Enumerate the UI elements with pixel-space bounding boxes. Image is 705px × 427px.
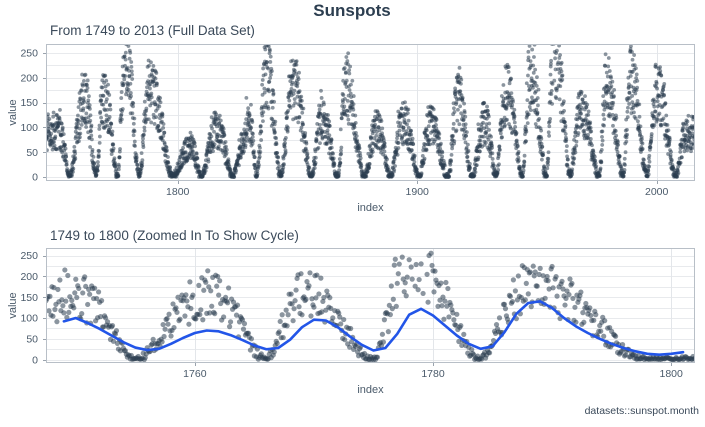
data-point (420, 291, 425, 296)
data-point (355, 134, 359, 138)
data-point (171, 325, 176, 330)
data-point (558, 53, 562, 57)
data-point (352, 102, 356, 106)
data-point (409, 129, 413, 133)
data-point (553, 274, 558, 279)
data-point (289, 292, 294, 297)
data-point (61, 126, 65, 130)
y-tick-label: 250 (20, 48, 38, 60)
data-point (76, 119, 80, 123)
data-point (71, 170, 75, 174)
data-point (609, 84, 613, 88)
data-point (160, 339, 165, 344)
data-point (428, 251, 433, 256)
data-point (250, 120, 254, 124)
data-point (271, 106, 275, 110)
data-point (563, 120, 567, 124)
y-axis-title: value (7, 292, 19, 318)
plot-area (46, 248, 695, 363)
data-point (99, 298, 104, 303)
data-point (248, 113, 252, 117)
data-point (464, 122, 468, 126)
data-point (322, 102, 326, 106)
data-point (463, 115, 467, 119)
data-point (307, 270, 312, 275)
data-point (601, 94, 605, 98)
data-point (453, 110, 457, 114)
data-point (154, 71, 158, 75)
data-point (440, 155, 444, 159)
data-point (635, 79, 639, 83)
data-point (295, 59, 299, 63)
data-point (86, 86, 90, 90)
data-point (505, 118, 509, 122)
data-point (566, 164, 570, 168)
data-point (275, 142, 279, 146)
data-point (409, 133, 413, 137)
data-point (380, 332, 385, 337)
data-point (497, 152, 501, 156)
data-point (448, 163, 452, 167)
data-point (78, 132, 82, 136)
data-point (318, 123, 322, 127)
data-point (298, 271, 303, 276)
data-point (570, 167, 574, 171)
data-point (327, 133, 331, 137)
data-point (407, 257, 412, 262)
data-point (127, 88, 131, 92)
data-point (50, 314, 55, 319)
data-point (200, 317, 205, 322)
data-point (345, 79, 349, 83)
data-point (114, 328, 119, 333)
data-point (286, 109, 290, 113)
data-point (280, 312, 285, 317)
data-point (151, 64, 155, 68)
data-point (306, 283, 311, 288)
data-point (380, 126, 384, 130)
data-point (64, 154, 68, 158)
data-point (120, 117, 124, 121)
data-point (174, 310, 179, 315)
data-point (110, 133, 114, 137)
data-point (637, 103, 641, 107)
data-point (679, 161, 683, 165)
data-point (652, 105, 656, 109)
data-point (140, 158, 144, 162)
data-point (398, 121, 402, 125)
data-point (575, 140, 579, 144)
data-point (510, 299, 515, 304)
data-point (92, 155, 96, 159)
data-point (636, 119, 640, 123)
data-point (602, 113, 606, 117)
data-point (344, 70, 348, 74)
data-point (611, 124, 615, 128)
data-point (117, 165, 121, 169)
data-point (456, 108, 460, 112)
data-point (649, 145, 653, 149)
data-point (566, 158, 570, 162)
data-point (265, 60, 269, 64)
data-point (450, 153, 454, 157)
data-point (570, 296, 575, 301)
data-point (122, 82, 126, 86)
data-point (526, 50, 530, 54)
data-point (272, 349, 277, 354)
data-point (339, 127, 343, 131)
data-point (318, 141, 322, 145)
data-point (602, 117, 606, 121)
data-point (241, 327, 246, 332)
data-point (686, 120, 690, 124)
data-point (339, 146, 343, 150)
data-point (560, 78, 564, 82)
data-point (186, 322, 191, 327)
data-point (527, 112, 531, 116)
data-point (558, 97, 562, 101)
x-tick-label: 1900 (406, 186, 430, 198)
data-point (678, 150, 682, 154)
data-point (300, 99, 304, 103)
data-point (209, 304, 214, 309)
data-point (370, 154, 374, 158)
data-point (293, 287, 298, 292)
data-point (535, 284, 540, 289)
data-point (251, 142, 255, 146)
data-point (338, 157, 342, 161)
data-point (624, 150, 628, 154)
data-point (342, 337, 347, 342)
data-point (497, 315, 502, 320)
data-point (532, 55, 536, 59)
data-point (130, 65, 134, 69)
data-point (642, 158, 646, 162)
data-point (508, 294, 513, 299)
data-point (84, 73, 88, 77)
data-point (98, 135, 102, 139)
data-point (346, 118, 350, 122)
data-point (104, 79, 108, 83)
data-point (349, 83, 353, 87)
data-point (71, 167, 75, 171)
data-point (594, 161, 598, 165)
data-point (583, 94, 587, 98)
data-point (256, 172, 260, 176)
data-point (400, 107, 404, 111)
data-point (89, 134, 93, 138)
data-point (510, 91, 514, 95)
data-point (261, 119, 265, 123)
data-point (614, 129, 618, 133)
data-point (193, 144, 197, 148)
data-point (612, 88, 616, 92)
data-point (446, 314, 451, 319)
data-point (623, 157, 627, 161)
data-point (540, 145, 544, 149)
data-point (65, 162, 69, 166)
data-point (235, 303, 240, 308)
data-point (461, 96, 465, 100)
data-point (205, 166, 209, 170)
data-point (103, 74, 107, 78)
data-point (639, 124, 643, 128)
data-point (510, 103, 514, 107)
data-point (237, 163, 241, 167)
data-point (80, 123, 84, 127)
data-point (118, 155, 122, 159)
data-point (111, 130, 115, 134)
data-point (274, 136, 278, 140)
data-point (320, 96, 324, 100)
data-point (161, 322, 166, 327)
data-point (647, 154, 651, 158)
data-point (611, 113, 615, 117)
data-point (666, 123, 670, 127)
data-point (374, 134, 378, 138)
data-point (131, 101, 135, 105)
data-point (182, 313, 187, 318)
data-point (516, 144, 520, 148)
data-point (566, 292, 571, 297)
data-point (296, 304, 301, 309)
data-point (623, 163, 627, 167)
data-point (258, 155, 262, 159)
data-point (428, 142, 432, 146)
data-point (405, 275, 410, 280)
y-tick-label: 100 (20, 122, 38, 134)
data-point (162, 122, 166, 126)
data-point (350, 79, 354, 83)
data-point (400, 255, 405, 260)
data-point (560, 61, 564, 65)
data-point (655, 87, 659, 91)
data-point (214, 112, 218, 116)
data-point (84, 125, 88, 129)
data-point (473, 173, 477, 177)
data-point (54, 319, 59, 324)
data-point (608, 69, 612, 73)
data-point (543, 296, 548, 301)
data-point (463, 126, 467, 130)
data-point (286, 126, 290, 130)
data-point (466, 155, 470, 159)
data-point (579, 112, 583, 116)
data-point (646, 169, 650, 173)
data-point (225, 300, 230, 305)
data-point (539, 129, 543, 133)
data-point (261, 78, 265, 82)
data-point (88, 119, 92, 123)
data-point (130, 69, 134, 73)
data-point (386, 329, 391, 334)
data-point (64, 147, 68, 151)
data-point (166, 161, 170, 165)
data-point (217, 145, 221, 149)
data-point (388, 312, 393, 317)
data-point (98, 110, 102, 114)
data-point (245, 131, 249, 135)
data-point (82, 96, 86, 100)
data-point (594, 164, 598, 168)
data-point (546, 278, 551, 283)
data-point (197, 312, 202, 317)
data-point (521, 175, 525, 179)
data-point (602, 124, 606, 128)
data-point (299, 95, 303, 99)
data-point (269, 73, 273, 77)
data-point (681, 126, 685, 130)
data-point (524, 139, 528, 143)
data-point (623, 168, 627, 172)
data-point (473, 167, 477, 171)
data-point (52, 111, 56, 115)
data-point (120, 113, 124, 117)
data-point (331, 152, 335, 156)
data-point (600, 135, 604, 139)
data-point (580, 90, 584, 94)
data-point (246, 106, 250, 110)
data-point (272, 91, 276, 95)
data-point (609, 76, 613, 80)
data-point (267, 107, 271, 111)
data-point (162, 327, 167, 332)
data-point (491, 151, 495, 155)
data-point (373, 123, 377, 127)
data-point (385, 157, 389, 161)
data-point (599, 166, 603, 170)
data-point (590, 143, 594, 147)
data-point (97, 127, 101, 131)
data-point (286, 312, 291, 317)
data-point (141, 137, 145, 141)
data-point (364, 175, 368, 179)
data-point (574, 144, 578, 148)
data-point (375, 355, 380, 360)
data-point (117, 174, 121, 178)
data-point (313, 166, 317, 170)
data-point (409, 264, 414, 269)
data-point (427, 124, 431, 128)
data-point (503, 123, 507, 127)
data-point (98, 141, 102, 145)
data-point (283, 141, 287, 145)
data-point (550, 264, 555, 269)
data-point (485, 105, 489, 109)
data-point (187, 279, 192, 284)
data-point (523, 154, 527, 158)
data-point (259, 130, 263, 134)
data-point (492, 163, 496, 167)
data-point (562, 302, 567, 307)
data-point (112, 147, 116, 151)
data-point (105, 97, 109, 101)
data-point (98, 124, 102, 128)
data-point (432, 269, 437, 274)
data-point (458, 104, 462, 108)
data-point (269, 55, 273, 59)
data-point (481, 121, 485, 125)
data-point (482, 135, 486, 139)
data-point (425, 148, 429, 152)
data-point (589, 129, 593, 133)
data-point (466, 143, 470, 147)
data-point (154, 115, 158, 119)
data-point (111, 142, 115, 146)
data-point (630, 50, 634, 54)
data-point (338, 161, 342, 165)
data-point (647, 172, 651, 176)
data-point (168, 333, 173, 338)
data-point (346, 51, 350, 55)
data-point (622, 174, 626, 178)
data-point (123, 74, 127, 78)
data-point (522, 169, 526, 173)
data-point (467, 149, 471, 153)
data-point (140, 151, 144, 155)
data-point (62, 267, 67, 272)
data-point (221, 314, 226, 319)
data-point (326, 113, 330, 117)
data-point (419, 261, 424, 266)
data-point (207, 160, 211, 164)
data-point (550, 89, 554, 93)
data-point (52, 307, 57, 312)
data-point (283, 145, 287, 149)
data-point (58, 108, 62, 112)
data-point (487, 122, 491, 126)
data-point (128, 51, 132, 55)
data-point (97, 149, 101, 153)
data-point (62, 132, 66, 136)
data-point (261, 67, 265, 71)
data-point (588, 120, 592, 124)
data-point (484, 141, 488, 145)
data-point (591, 318, 596, 323)
data-point (327, 295, 332, 300)
data-point (268, 76, 272, 80)
data-point (63, 299, 68, 304)
data-point (155, 82, 159, 86)
data-point (347, 68, 351, 72)
data-point (391, 297, 396, 302)
data-point (265, 101, 269, 105)
data-point (423, 157, 427, 161)
data-point (458, 323, 463, 328)
data-point (398, 129, 402, 133)
data-point (614, 134, 618, 138)
data-point (49, 132, 53, 136)
data-point (586, 113, 590, 117)
data-point (225, 148, 229, 152)
data-point (130, 73, 134, 77)
data-point (509, 77, 513, 81)
data-point (108, 126, 112, 130)
data-point (587, 110, 591, 114)
data-point (211, 149, 215, 153)
data-point (181, 146, 185, 150)
data-point (285, 115, 289, 119)
data-point (604, 52, 608, 56)
data-point (611, 101, 615, 105)
data-point (633, 92, 637, 96)
y-tick-label: 100 (20, 313, 38, 325)
data-point (529, 59, 533, 63)
data-point (89, 113, 93, 117)
data-point (351, 108, 355, 112)
data-point (295, 63, 299, 67)
data-point (526, 74, 530, 78)
